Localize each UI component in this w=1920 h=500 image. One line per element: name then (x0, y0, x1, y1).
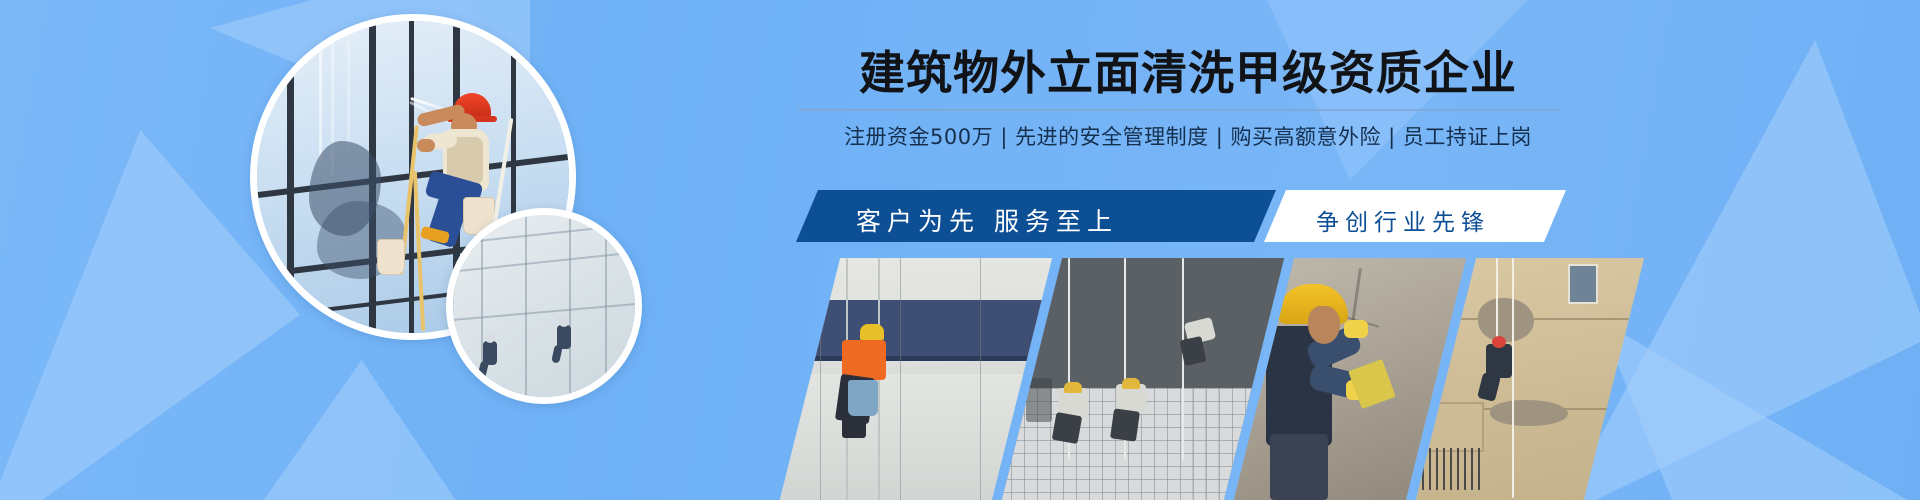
circular-photo-collage (246, 6, 666, 406)
page-title: 建筑物外立面清洗甲级资质企业 (798, 46, 1578, 100)
headline-block: 建筑物外立面清洗甲级资质企业 注册资金500万 | 先进的安全管理制度 | 购买… (798, 46, 1578, 151)
slogan-secondary: 争创行业先锋 (1316, 203, 1490, 237)
slogan-primary: 客户为先 服务至上 (856, 202, 1256, 238)
circle-photo-facade-workers (446, 208, 642, 404)
slogan-ribbon: 客户为先 服务至上 争创行业先锋 (796, 190, 1566, 242)
subtitle: 注册资金500万 | 先进的安全管理制度 | 购买高额意外险 | 员工持证上岗 (798, 121, 1578, 151)
photo-strip (796, 258, 1586, 500)
white-facade-scene (453, 215, 635, 397)
promo-banner: 建筑物外立面清洗甲级资质企业 注册资金500万 | 先进的安全管理制度 | 购买… (0, 0, 1920, 500)
title-divider (798, 109, 1560, 111)
